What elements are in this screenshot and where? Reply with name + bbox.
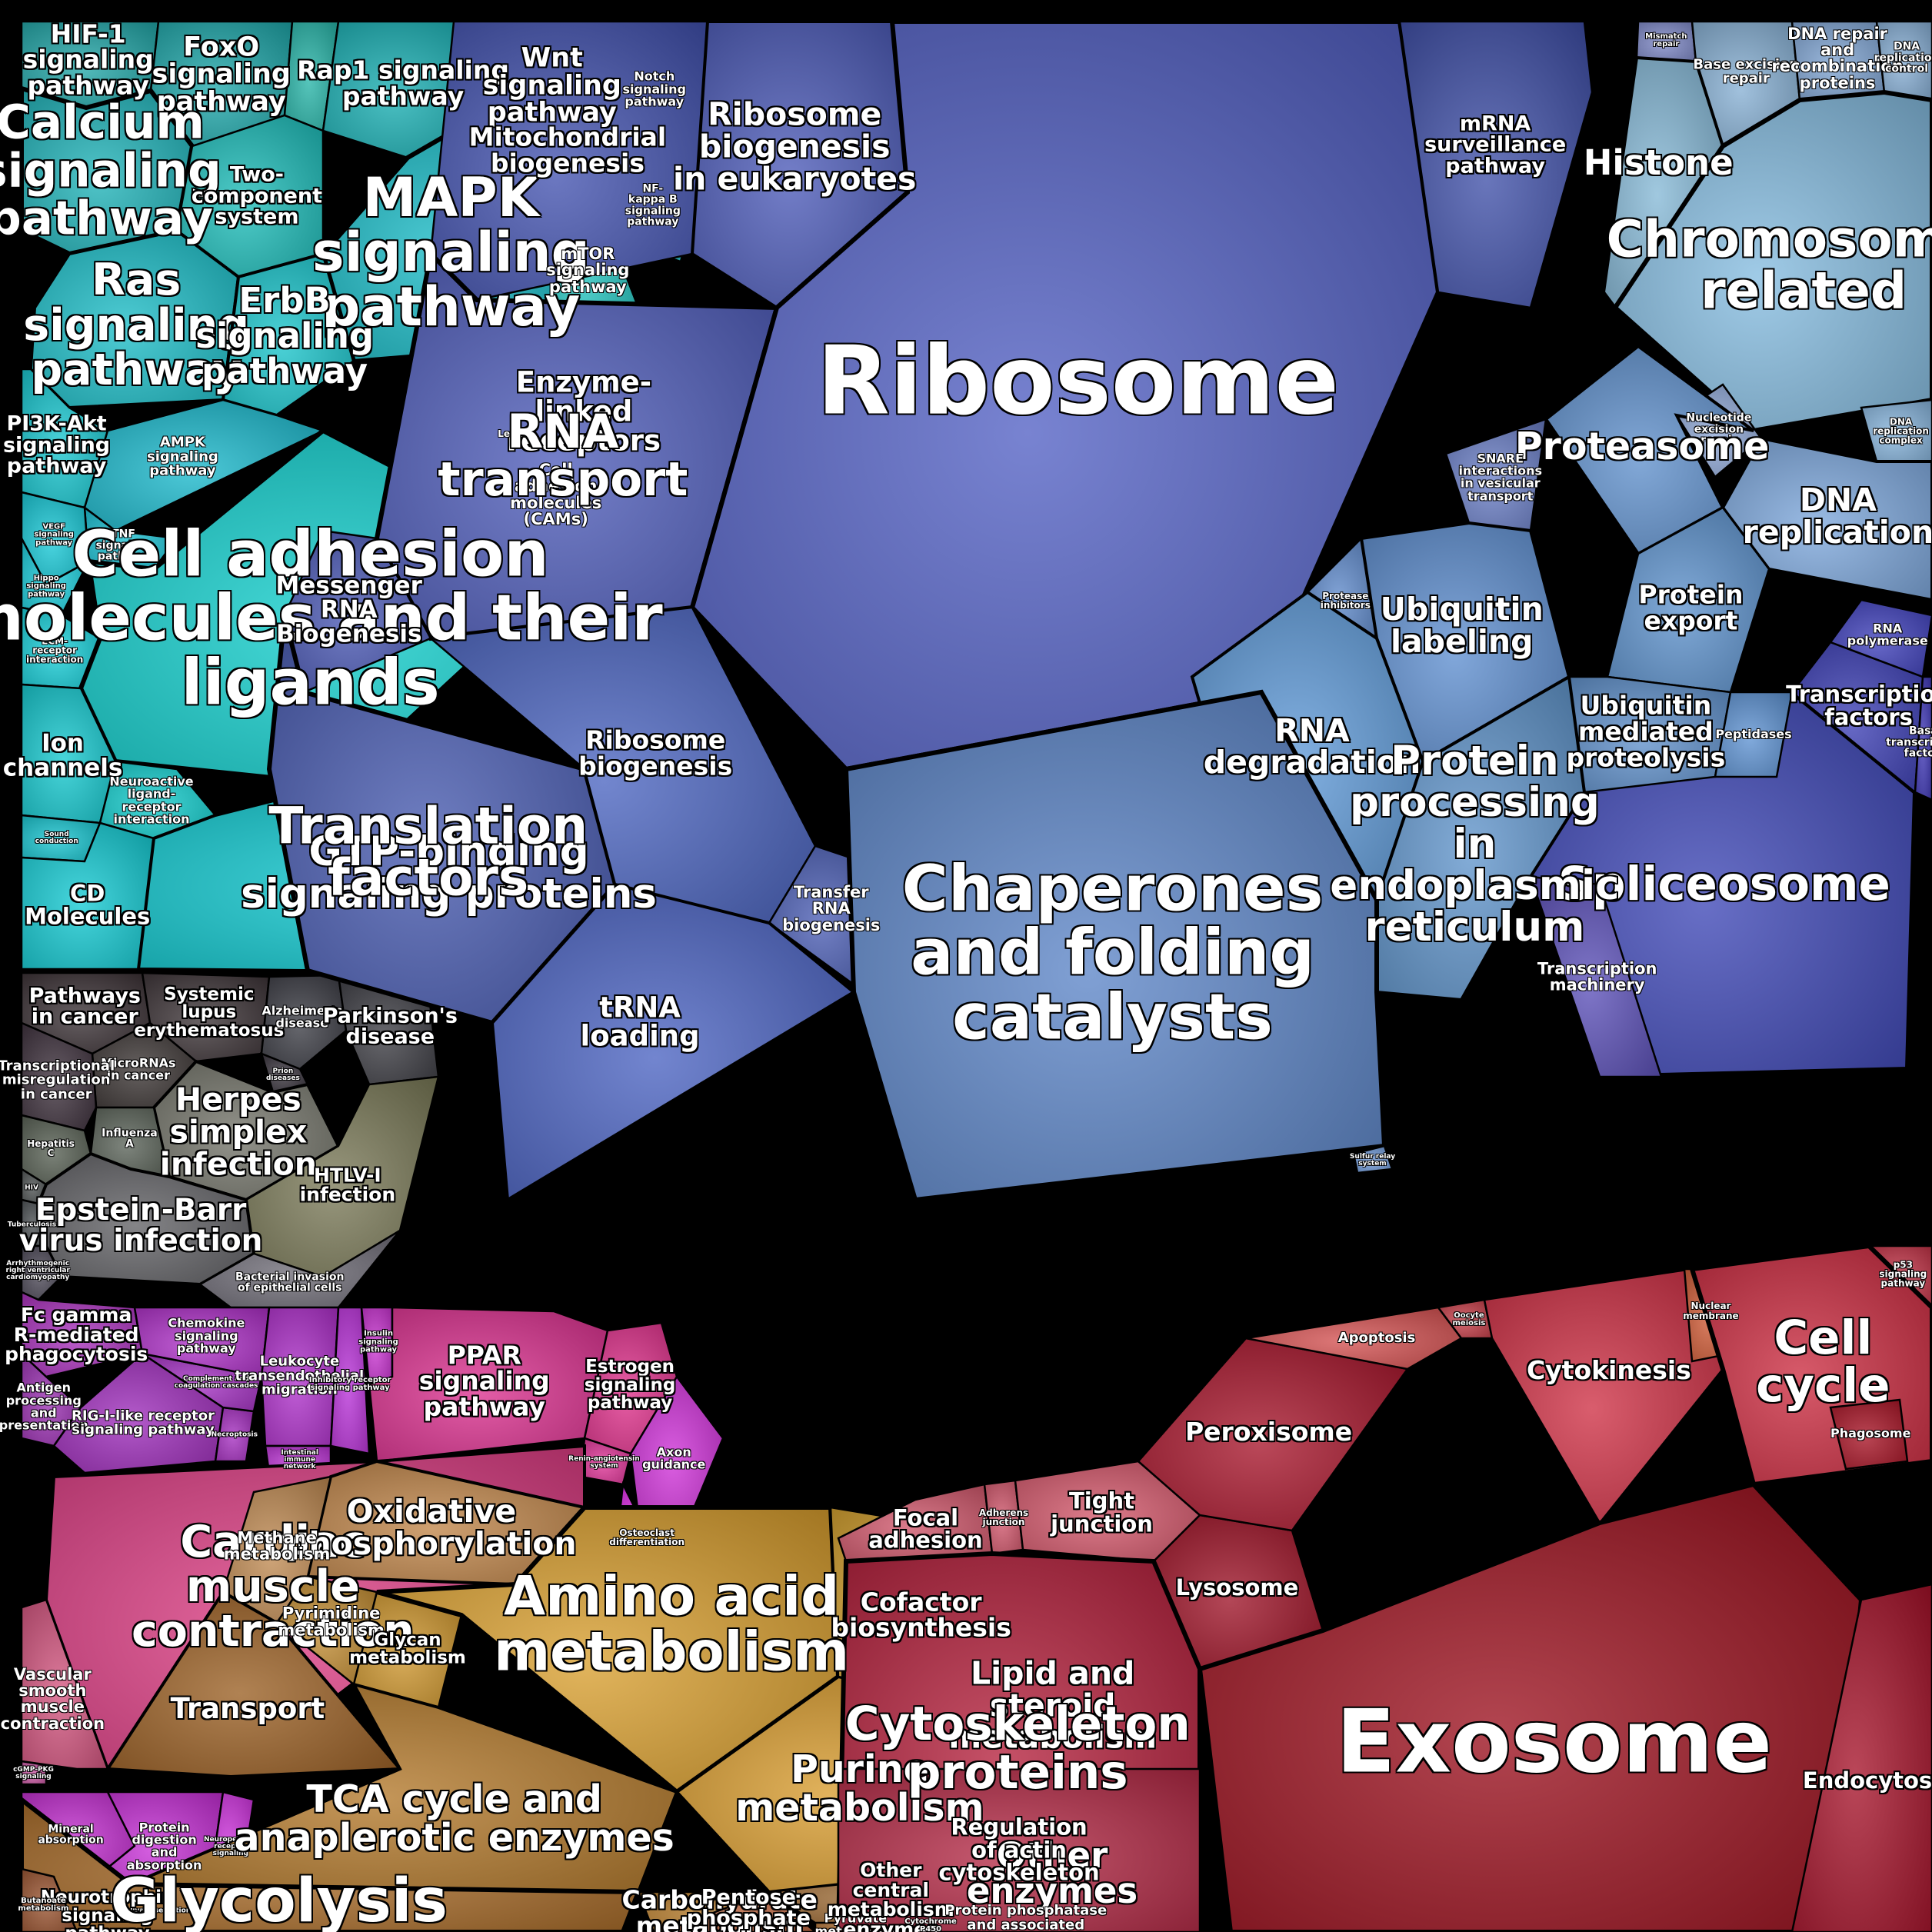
treemap-cell[interactable] — [846, 692, 1384, 1200]
voronoi-treemap-figure: HIF-1 signaling pathwayFoxO signaling pa… — [0, 0, 1932, 1932]
treemap-cell[interactable] — [261, 975, 346, 1069]
treemap-cell[interactable] — [1569, 677, 1730, 792]
treemap-cell[interactable] — [838, 1769, 1200, 1932]
treemap-cell[interactable] — [31, 231, 238, 408]
treemap-cell[interactable] — [261, 1307, 338, 1446]
treemap-cell[interactable] — [1877, 22, 1932, 100]
treemap-cell[interactable] — [361, 1307, 392, 1384]
treemap-cell[interactable] — [215, 1407, 254, 1461]
treemap-cell[interactable] — [1637, 22, 1696, 62]
treemap-cell[interactable] — [22, 1761, 46, 1784]
treemap-cell[interactable] — [431, 22, 708, 300]
treemap-svg — [0, 0, 1932, 1932]
treemap-cell[interactable] — [369, 1307, 608, 1461]
treemap-cell[interactable] — [1446, 419, 1546, 531]
treemap-cell[interactable] — [1792, 22, 1884, 100]
treemap-cell[interactable] — [22, 1292, 142, 1377]
treemap-cell[interactable] — [1861, 400, 1932, 461]
treemap-cell[interactable] — [22, 88, 192, 254]
